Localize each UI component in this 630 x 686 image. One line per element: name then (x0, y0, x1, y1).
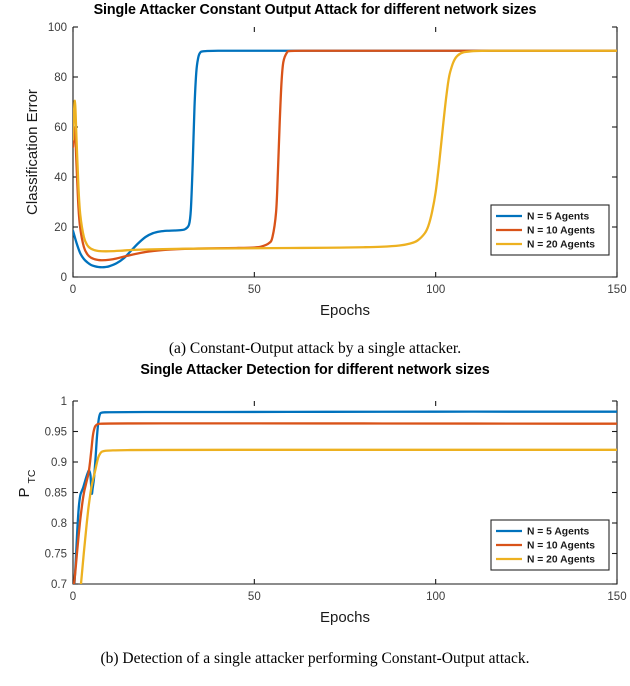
chart-b: 0.70.750.80.850.90.951050100150EpochsPTC… (0, 376, 630, 638)
y-tick-label: 0.9 (51, 457, 67, 469)
legend-item-label: N = 20 Agents (527, 240, 595, 251)
figure-a: Single Attacker Constant Output Attack f… (0, 0, 630, 330)
y-tick-label: 80 (54, 72, 67, 84)
x-tick-label: 50 (248, 591, 261, 603)
legend-item-label: N = 5 Agents (527, 527, 590, 538)
x-tick-label: 0 (70, 284, 76, 296)
y-tick-label: 0 (61, 272, 67, 284)
y-tick-label: 0.75 (45, 549, 67, 561)
y-tick-label: 20 (54, 222, 67, 234)
chart-a-svg: 020406080100050100150EpochsClassificatio… (0, 0, 630, 330)
legend-item-label: N = 10 Agents (527, 226, 595, 237)
figure-page: Single Attacker Constant Output Attack f… (0, 0, 630, 686)
caption-b: (b) Detection of a single attacker perfo… (0, 650, 630, 668)
legend-item-label: N = 5 Agents (527, 212, 590, 223)
x-tick-label: 100 (426, 591, 445, 603)
x-axis-label: Epochs (320, 609, 370, 626)
svg-text:TC: TC (26, 469, 38, 483)
y-axis-label: PTC (16, 469, 38, 497)
y-axis-label: Classification Error (24, 89, 41, 215)
y-tick-label: 0.95 (45, 427, 67, 439)
x-tick-label: 0 (70, 591, 76, 603)
y-tick-label: 1 (61, 396, 67, 408)
x-tick-label: 150 (607, 591, 626, 603)
chart-a: 020406080100050100150EpochsClassificatio… (0, 0, 630, 330)
legend-item-label: N = 20 Agents (527, 555, 595, 566)
caption-a: (a) Constant-Output attack by a single a… (0, 340, 630, 358)
x-tick-label: 100 (426, 284, 445, 296)
svg-text:P: P (16, 487, 33, 497)
y-tick-label: 60 (54, 122, 67, 134)
y-tick-label: 100 (48, 22, 67, 34)
x-axis-label: Epochs (320, 302, 370, 319)
y-tick-label: 0.7 (51, 579, 67, 591)
y-tick-label: 40 (54, 172, 67, 184)
y-tick-label: 0.85 (45, 488, 67, 500)
y-tick-label: 0.8 (51, 518, 67, 530)
x-tick-label: 50 (248, 284, 261, 296)
x-tick-label: 150 (607, 284, 626, 296)
legend-item-label: N = 10 Agents (527, 541, 595, 552)
legend[interactable]: N = 5 AgentsN = 10 AgentsN = 20 Agents (491, 520, 609, 570)
legend[interactable]: N = 5 AgentsN = 10 AgentsN = 20 Agents (491, 205, 609, 255)
chart-b-svg: 0.70.750.80.850.90.951050100150EpochsPTC… (0, 376, 630, 638)
